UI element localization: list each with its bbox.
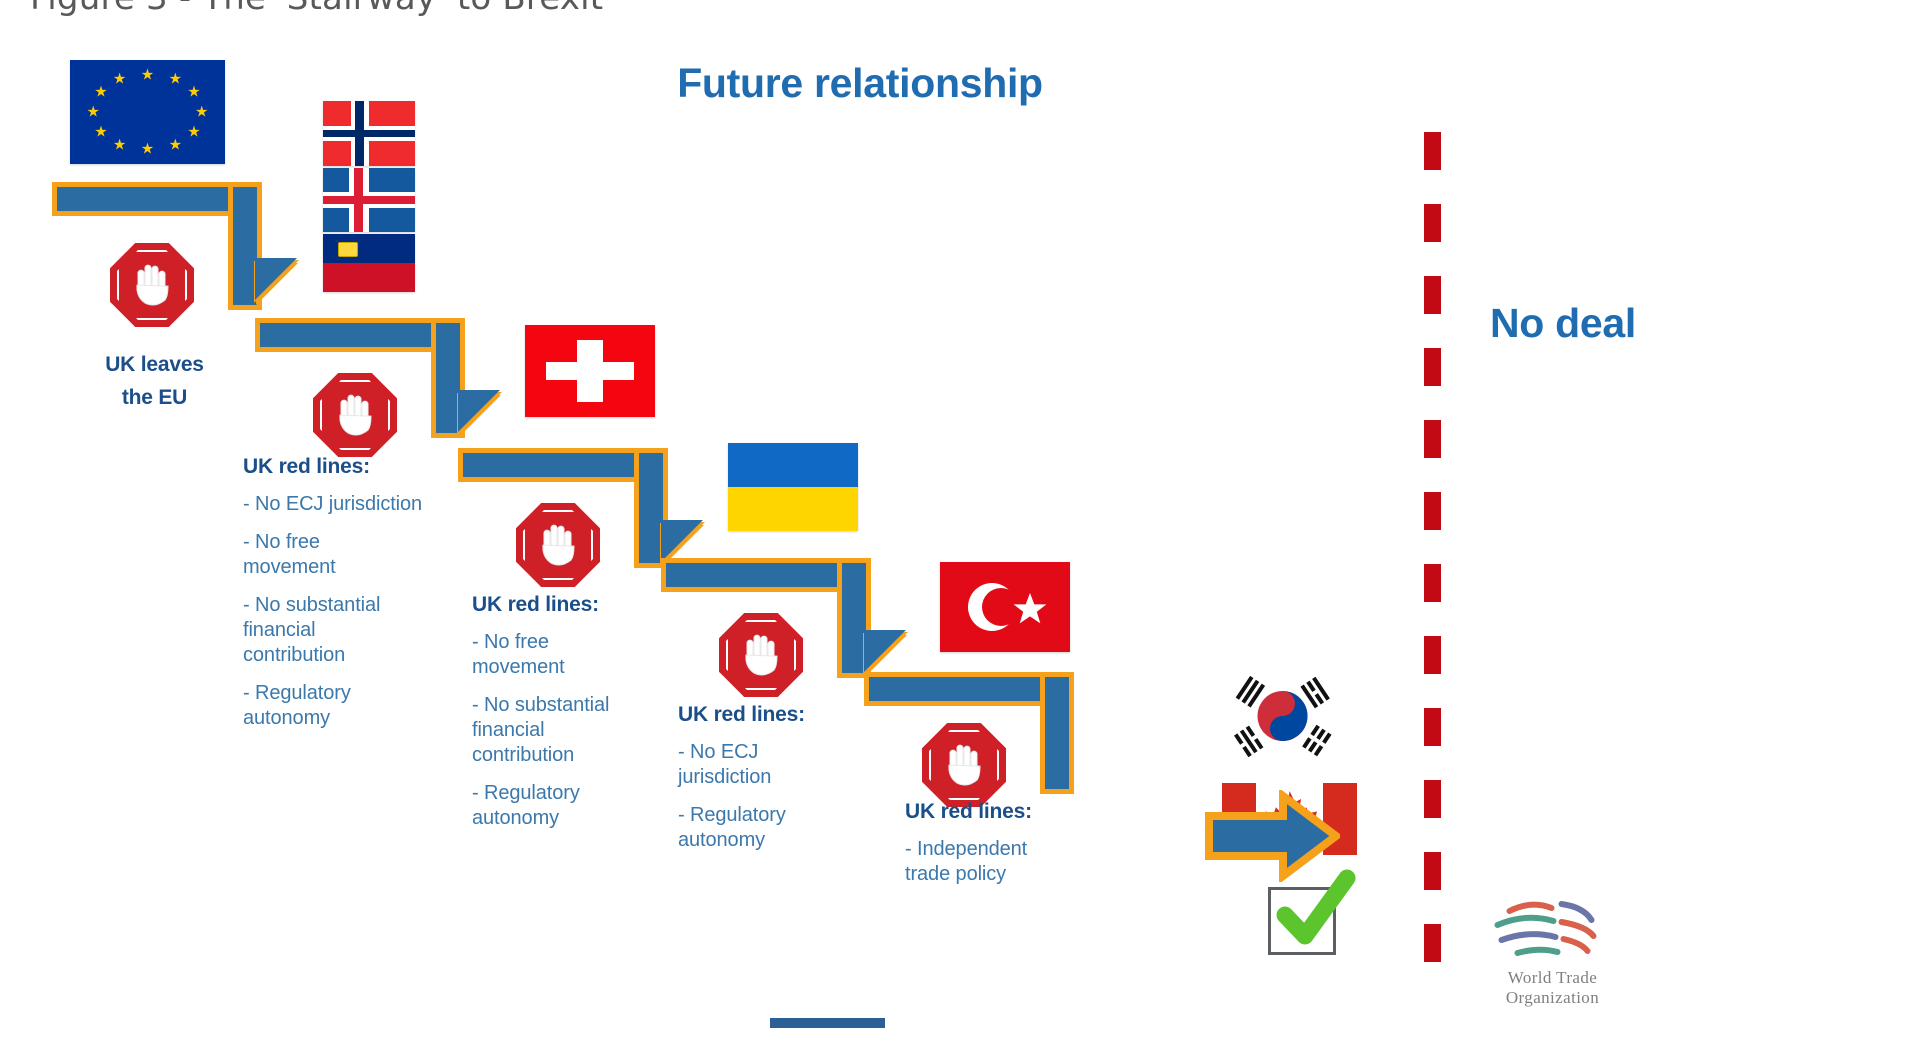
stop-sign-2 — [313, 373, 397, 457]
raised-hand-icon — [944, 741, 984, 787]
checkmark-icon — [1265, 860, 1360, 955]
no-deal-label: No deal — [1490, 300, 1636, 347]
red-lines-block-3: UK red lines: - No ECJ jurisdiction - Re… — [678, 703, 853, 866]
red-lines-item: - Regulatory autonomy — [243, 681, 393, 731]
red-lines-heading: UK red lines: — [472, 593, 657, 617]
red-lines-item: - Regulatory autonomy — [678, 803, 813, 853]
turkey-crescent-star-icon — [940, 562, 1070, 652]
eu-flag: ★ ★ ★ ★ ★ ★ ★ ★ ★ ★ ★ ★ — [70, 60, 225, 164]
stop-sign-5 — [922, 723, 1006, 807]
raised-hand-icon — [132, 261, 172, 307]
wto-logo: World Trade Organization — [1455, 895, 1650, 1020]
stair-nub-1 — [255, 258, 297, 300]
figure-canvas: Figure 3 - The 'Stairway' to Brexit Futu… — [0, 0, 1926, 1044]
raised-hand-icon — [335, 391, 375, 437]
red-lines-item: - No ECJ jurisdiction — [243, 492, 458, 517]
stair-nub-2 — [458, 390, 500, 432]
red-lines-heading: UK red lines: — [905, 800, 1085, 824]
raised-hand-icon — [741, 631, 781, 677]
uk-leaves-eu-caption: UK leaves the EU — [72, 348, 237, 414]
caption-line-1: UK leaves — [72, 348, 237, 381]
bottom-accent-bar — [770, 1018, 885, 1028]
stair-nub-3 — [661, 520, 703, 562]
stop-sign-4 — [719, 613, 803, 697]
figure-title: Figure 3 - The 'Stairway' to Brexit — [30, 0, 1230, 16]
turkey-flag — [940, 562, 1070, 652]
red-lines-heading: UK red lines: — [243, 455, 458, 479]
red-lines-block-4: UK red lines: - Independent trade policy — [905, 800, 1085, 900]
red-lines-item: - No ECJ jurisdiction — [678, 740, 788, 790]
red-lines-item: - No substantial financial contribution — [472, 693, 642, 768]
red-lines-heading: UK red lines: — [678, 703, 853, 727]
stop-sign-3 — [516, 503, 600, 587]
red-lines-item: - No substantial financial contribution — [243, 593, 408, 668]
no-deal-divider — [1424, 132, 1441, 962]
headline-future-relationship: Future relationship — [540, 60, 1180, 107]
liechtenstein-flag — [323, 234, 415, 292]
wto-globe-icon — [1455, 895, 1650, 963]
caption-line-2: the EU — [72, 381, 237, 414]
switzerland-flag — [525, 325, 655, 417]
norway-flag — [323, 101, 415, 166]
wto-line-2: Organization — [1455, 988, 1650, 1008]
red-lines-block-1: UK red lines: - No ECJ jurisdiction - No… — [243, 455, 458, 744]
red-lines-block-2: UK red lines: - No free movement - No su… — [472, 593, 657, 844]
stop-sign-1 — [110, 243, 194, 327]
red-lines-item: - Independent trade policy — [905, 837, 1065, 887]
ukraine-flag — [728, 443, 858, 531]
iceland-flag — [323, 168, 415, 232]
red-lines-item: - No free movement — [472, 630, 587, 680]
wto-line-1: World Trade — [1455, 968, 1650, 988]
south-korea-flag — [1215, 670, 1350, 762]
raised-hand-icon — [538, 521, 578, 567]
red-lines-item: - No free movement — [243, 530, 353, 580]
wto-wordmark: World Trade Organization — [1455, 968, 1650, 1008]
red-lines-item: - Regulatory autonomy — [472, 781, 622, 831]
stair-nub-4 — [864, 630, 906, 672]
